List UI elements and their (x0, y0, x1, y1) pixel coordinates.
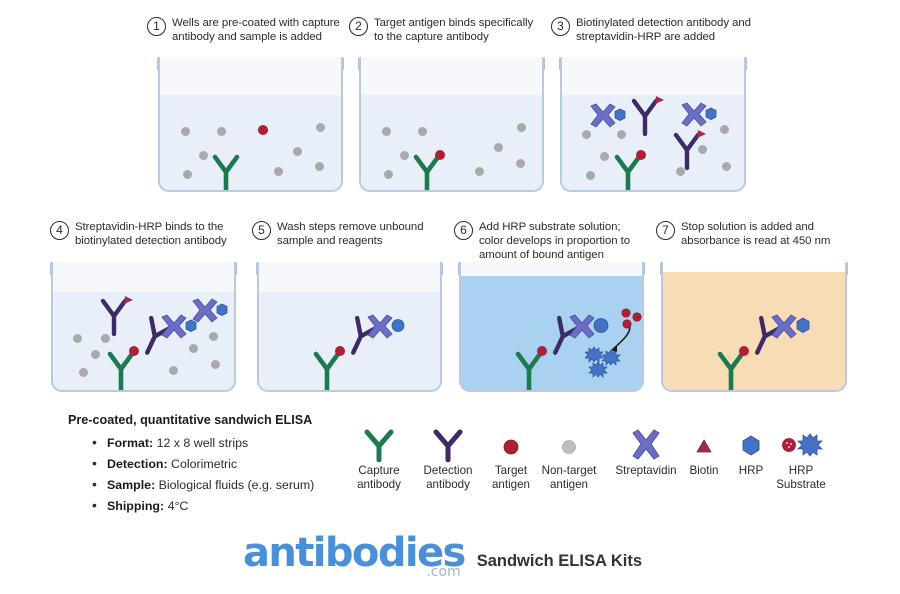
capture-antibody (209, 153, 243, 192)
well-step-7 (661, 262, 847, 392)
legend-label: Streptavidin (608, 464, 684, 478)
well-contents (259, 262, 440, 390)
streptavidin-hrp-complex-bound (769, 314, 811, 345)
target-antigen-bound (435, 150, 445, 160)
non-target-antigen (293, 147, 302, 156)
streptavidin-icon (772, 315, 796, 338)
legend-streptavidin: Streptavidin (608, 428, 684, 478)
step-text-5: Wash steps remove unbound sample and rea… (277, 220, 432, 248)
step-header-1: 1 Wells are pre-coated with capture anti… (147, 16, 342, 44)
step-number-1: 1 (147, 17, 166, 36)
well-contents (361, 57, 542, 190)
info-item-format: Format: 12 x 8 well strips (92, 433, 352, 454)
streptavidin-icon (608, 428, 684, 462)
capture-antibody-icon (343, 428, 415, 462)
non-target-antigen (316, 123, 325, 132)
non-target-antigen (586, 171, 595, 180)
legend-label: Detection antibody (410, 464, 486, 492)
well-body (257, 262, 442, 392)
step-number-2: 2 (349, 17, 368, 36)
well-step-3 (560, 57, 746, 192)
hrp-substrate-icon (768, 428, 834, 462)
non-target-antigen (169, 366, 178, 375)
legend-label: Capture antibody (343, 464, 415, 492)
non-target-antigen (400, 151, 409, 160)
step-header-2: 2 Target antigen binds specifically to t… (349, 16, 545, 44)
well-contents (160, 57, 341, 190)
legend-label: Biotin (681, 464, 727, 478)
info-list: Format: 12 x 8 well strips Detection: Co… (92, 433, 352, 517)
step-text-1: Wells are pre-coated with capture antibo… (172, 16, 342, 44)
info-value: 4°C (164, 499, 188, 513)
streptavidin-hrp-complex (588, 103, 630, 134)
step-number-4: 4 (50, 221, 69, 240)
well-contents (461, 262, 642, 390)
step-text-2: Target antigen binds specifically to the… (374, 16, 545, 44)
non-target-antigen (315, 162, 324, 171)
non-target-antigen (382, 127, 391, 136)
well-body (51, 262, 236, 392)
info-label: Shipping: (107, 499, 164, 513)
streptavidin-hrp-complex-bound (159, 314, 201, 345)
brand-footer: antibodies .com Sandwich ELISA Kits (243, 530, 642, 576)
info-title: Pre-coated, quantitative sandwich ELISA (68, 413, 312, 427)
legend-detection-antibody: Detection antibody (410, 428, 486, 492)
well-step-6 (459, 262, 644, 392)
hrp-icon (729, 428, 773, 462)
legend-label: HRP Substrate (768, 464, 834, 492)
info-label: Detection: (107, 457, 168, 471)
well-step-1 (158, 57, 343, 192)
non-target-antigen (199, 151, 208, 160)
biotin-icon (655, 96, 664, 104)
non-target-antigen (217, 127, 226, 136)
streptavidin-icon (682, 103, 706, 126)
biotinylated-detection-antibody (95, 295, 137, 342)
non-target-antigen (722, 162, 731, 171)
well-body (158, 57, 343, 192)
well-contents (663, 262, 845, 390)
non-target-antigen (517, 123, 526, 132)
well-step-2 (359, 57, 544, 192)
streptavidin-icon (570, 315, 594, 338)
capture-antibody (310, 350, 344, 392)
biotin-icon (697, 130, 706, 138)
hrp-icon (392, 320, 404, 332)
well-body (560, 57, 746, 192)
info-value: Biological fluids (e.g. serum) (155, 478, 314, 492)
non-target-antigen (384, 170, 393, 179)
hrp-icon (797, 318, 809, 333)
streptavidin-icon (162, 315, 186, 338)
step-text-4: Streptavidin-HRP binds to the biotinylat… (75, 220, 235, 248)
legend-non-target-antigen: Non-target antigen (529, 428, 609, 492)
step-number-5: 5 (252, 221, 271, 240)
elisa-diagram: 1 Wells are pre-coated with capture anti… (0, 0, 900, 594)
target-antigen (258, 125, 268, 135)
step-number-7: 7 (656, 221, 675, 240)
streptavidin-icon (591, 104, 615, 127)
brand-tagline: Sandwich ELISA Kits (477, 552, 642, 571)
brand-dotcom: .com (426, 564, 460, 580)
legend-biotin: Biotin (681, 428, 727, 478)
non-target-antigen (209, 332, 218, 341)
well-body (459, 262, 644, 392)
biotinylated-detection-antibody (668, 129, 710, 176)
non-target-antigen (475, 167, 484, 176)
step-header-5: 5 Wash steps remove unbound sample and r… (252, 220, 432, 248)
step-header-6: 6 Add HRP substrate solution; color deve… (454, 220, 636, 263)
step-number-3: 3 (551, 17, 570, 36)
non-target-antigen (211, 360, 220, 369)
non-target-antigen (516, 159, 525, 168)
biotin-icon (681, 428, 727, 462)
non-target-antigen (91, 350, 100, 359)
info-label: Sample: (107, 478, 155, 492)
legend-label: Non-target antigen (529, 464, 609, 492)
hrp-icon (706, 108, 716, 120)
hrp-substrate-converted (585, 346, 623, 383)
legend-label: HRP (729, 464, 773, 478)
capture-antibody (714, 350, 748, 392)
capture-antibody (104, 350, 138, 392)
hrp-icon (217, 304, 227, 316)
hrp-icon (615, 109, 625, 121)
info-label: Format: (107, 436, 153, 450)
non-target-antigen (418, 127, 427, 136)
non-target-antigen (189, 344, 198, 353)
well-step-5 (257, 262, 442, 392)
biotinylated-detection-antibody (626, 95, 668, 142)
legend-hrp-substrate: HRP Substrate (768, 428, 834, 492)
streptavidin-icon (368, 315, 392, 338)
well-body (661, 262, 847, 392)
step-header-7: 7 Stop solution is added and absorbance … (656, 220, 846, 248)
legend-capture-antibody: Capture antibody (343, 428, 415, 492)
biotin-icon (124, 296, 133, 304)
well-contents (562, 57, 744, 190)
step-header-4: 4 Streptavidin-HRP binds to the biotinyl… (50, 220, 235, 248)
hrp-substrate-unconverted (619, 308, 644, 335)
well-contents (53, 262, 234, 390)
non-target-antigen (79, 368, 88, 377)
hrp-icon (186, 320, 196, 332)
step-text-6: Add HRP substrate solution; color develo… (479, 220, 636, 263)
non-target-antigen (181, 127, 190, 136)
well-step-4 (51, 262, 236, 392)
step-number-6: 6 (454, 221, 473, 240)
non-target-antigen (720, 125, 729, 134)
step-text-3: Biotinylated detection antibody and stre… (576, 16, 751, 44)
non-target-antigen-icon (529, 428, 609, 462)
step-header-3: 3 Biotinylated detection antibody and st… (551, 16, 751, 44)
legend-hrp: HRP (729, 428, 773, 478)
non-target-antigen (600, 152, 609, 161)
info-item-detection: Detection: Colorimetric (92, 454, 352, 475)
info-value: Colorimetric (168, 457, 238, 471)
detection-antibody-icon (410, 428, 486, 462)
well-body (359, 57, 544, 192)
info-value: 12 x 8 well strips (153, 436, 248, 450)
non-target-antigen (73, 334, 82, 343)
non-target-antigen (183, 170, 192, 179)
non-target-antigen (494, 143, 503, 152)
step-text-7: Stop solution is added and absorbance is… (681, 220, 846, 248)
info-item-shipping: Shipping: 4°C (92, 496, 352, 517)
info-item-sample: Sample: Biological fluids (e.g. serum) (92, 475, 352, 496)
capture-antibody (512, 350, 546, 392)
streptavidin-hrp-complex-bound (365, 314, 407, 345)
target-antigen-bound (636, 150, 646, 160)
non-target-antigen (274, 167, 283, 176)
